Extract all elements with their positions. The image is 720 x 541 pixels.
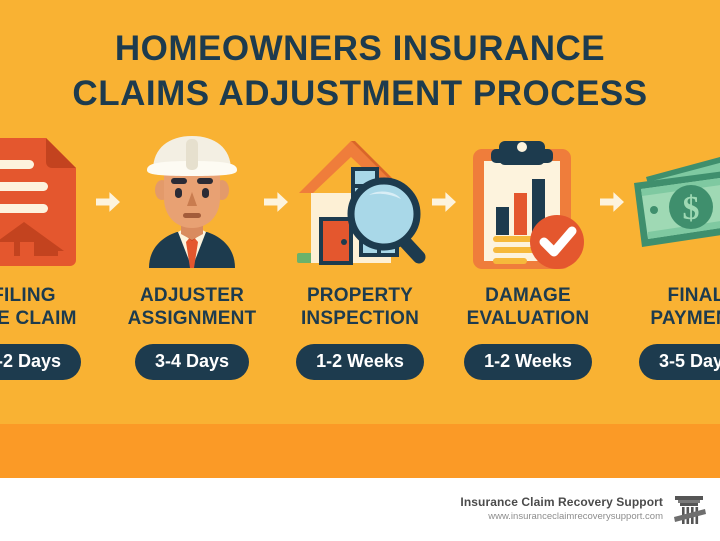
house-magnifier-icon xyxy=(288,132,432,272)
infographic-canvas: HOMEOWNERS INSURANCE CLAIMS ADJUSTMENT P… xyxy=(0,0,720,541)
column-pillar-logo xyxy=(672,491,706,527)
step-label: ADJUSTER ASSIGNMENT xyxy=(128,284,257,330)
step-duration-badge: 1-2 Days xyxy=(0,344,81,380)
step-label: FINAL PAYMENT xyxy=(650,284,720,330)
arrow-right-icon xyxy=(600,132,624,272)
footer-company-name: Insurance Claim Recovery Support xyxy=(460,495,663,510)
money-banknotes-icon: $ xyxy=(624,132,720,272)
process-step-final-payment: $ FINAL PAYMENT 3-5 Days xyxy=(624,132,720,380)
process-step-filing-the-claim: FILING THE CLAIM 1-2 Days xyxy=(0,132,96,380)
arrow-right-icon xyxy=(432,132,456,272)
footer-branding: Insurance Claim Recovery Support www.ins… xyxy=(0,486,720,532)
step-duration-badge: 3-5 Days xyxy=(639,344,720,380)
step-duration-badge: 3-4 Days xyxy=(135,344,249,380)
step-duration-badge: 1-2 Weeks xyxy=(296,344,424,380)
step-label: PROPERTY INSPECTION xyxy=(301,284,419,330)
process-step-property-inspection: PROPERTY INSPECTION 1-2 Weeks xyxy=(288,132,432,380)
process-step-adjuster-assignment: ADJUSTER ASSIGNMENT 3-4 Days xyxy=(120,132,264,380)
background-accent-band xyxy=(0,424,720,478)
clipboard-chart-check-icon xyxy=(456,132,600,272)
claim-document-icon xyxy=(0,132,96,272)
footer-text-block: Insurance Claim Recovery Support www.ins… xyxy=(460,495,663,523)
step-label: FILING THE CLAIM xyxy=(0,284,77,330)
title-line-2: CLAIMS ADJUSTMENT PROCESS xyxy=(0,71,720,116)
arrow-right-icon xyxy=(264,132,288,272)
title-line-1: HOMEOWNERS INSURANCE xyxy=(0,26,720,71)
step-label: DAMAGE EVALUATION xyxy=(467,284,590,330)
footer-website-url[interactable]: www.insuranceclaimrecoverysupport.com xyxy=(460,510,663,523)
process-steps: FILING THE CLAIM 1-2 Days xyxy=(0,132,720,380)
step-duration-badge: 1-2 Weeks xyxy=(464,344,592,380)
adjuster-person-icon xyxy=(120,132,264,272)
page-title: HOMEOWNERS INSURANCE CLAIMS ADJUSTMENT P… xyxy=(0,26,720,116)
arrow-right-icon xyxy=(96,132,120,272)
svg-text:$: $ xyxy=(683,190,700,227)
process-step-damage-evaluation: DAMAGE EVALUATION 1-2 Weeks xyxy=(456,132,600,380)
